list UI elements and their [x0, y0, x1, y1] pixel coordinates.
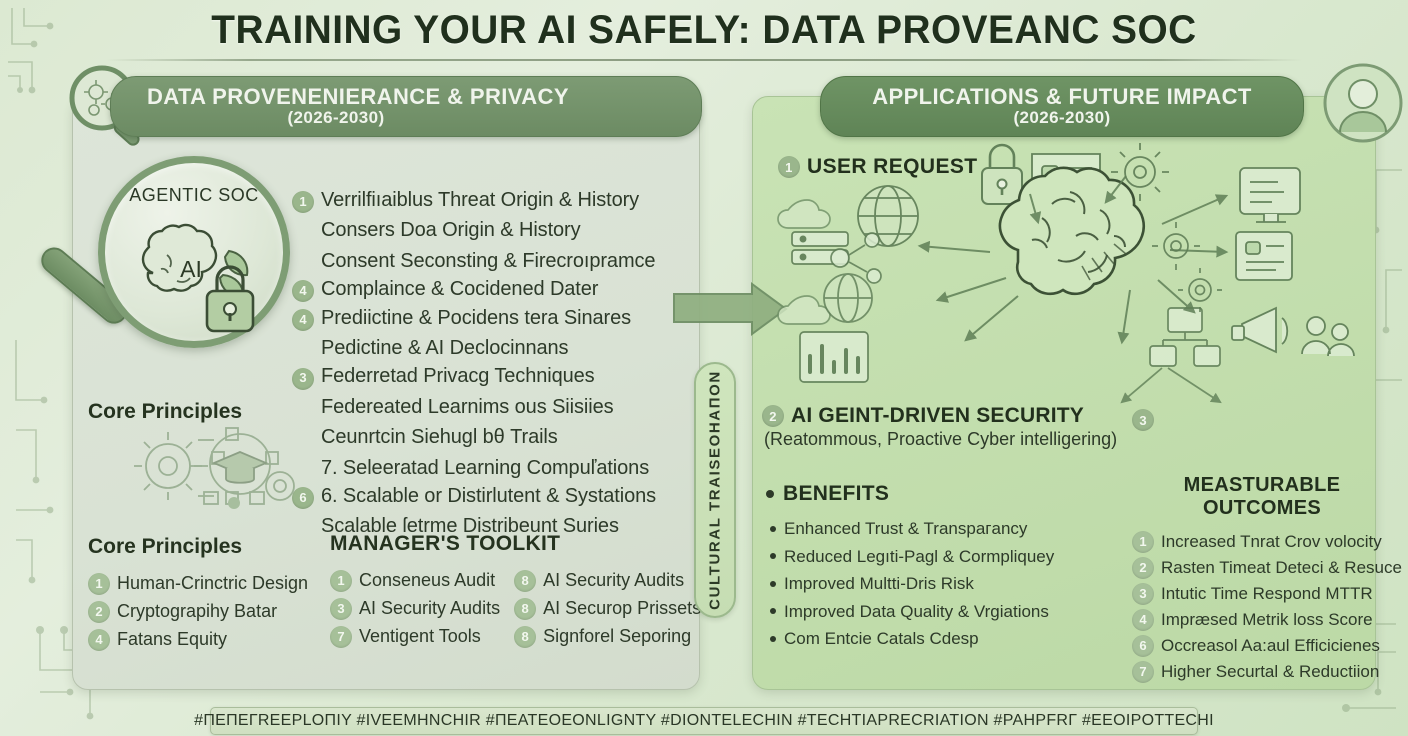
list-text: Rasten Timeat Deteci & Resuce [1161, 555, 1402, 581]
left-panel-header-years: (2026-2030) [147, 109, 675, 127]
step-number: 1 [778, 156, 800, 178]
list-number: 1 [1132, 531, 1154, 553]
list-number: 4 [1132, 609, 1154, 631]
magnifier-lens: AGENTIC SOC AI [98, 156, 290, 348]
list-item: 3Intutic Time Respond MTTR [1132, 581, 1392, 607]
bullet-icon [770, 581, 776, 587]
list-text: Consers Doa Origin & History [321, 216, 581, 244]
list-number: 4 [292, 309, 314, 331]
list-number: 1 [292, 191, 314, 213]
list-item: 6Occreasol Aa:aul Efficicienes [1132, 633, 1392, 659]
list-text: Signforel Seporing [543, 623, 691, 651]
step-2-ai-driven-security: 2AI GEINT-DRIVEN SECURITY (Reatommous, P… [762, 404, 1117, 450]
step-3-badge: 3 [1132, 409, 1161, 431]
list-item: 4Fatans Equity [88, 626, 338, 654]
list-item: Enhanced Trust & Transpaгancy [770, 515, 1106, 543]
list-text: Complaince & Cocidened Dater [321, 275, 598, 303]
step-label: AI GEINT-DRIVEN SECURITY [791, 404, 1084, 428]
list-item: 4Impræsed Metrik loss Score [1132, 607, 1392, 633]
list-number [292, 391, 314, 413]
list-number [292, 332, 314, 354]
list-text: 7. Seleeratad Learning Compuľations [321, 454, 649, 482]
list-text: Enhanced Trust & Transpaгancy [784, 515, 1027, 543]
benefits-title-row: BENEFITS [766, 482, 1106, 506]
list-text: Prediictine & Pocidens tera Sinares [321, 304, 631, 332]
cultural-transformation-label: CULTURAL TRAISEOHAПON [707, 370, 724, 610]
right-panel-header-title: APPLICATIONS & FUTURE IMPACT [847, 85, 1277, 108]
bullet-icon [770, 526, 776, 532]
list-number: 7 [1132, 661, 1154, 683]
list-item: 7. Seleeratad Learning Compuľations [292, 452, 690, 482]
benefits-title: BENEFITS [783, 482, 889, 506]
cultural-transformation-pill: CULTURAL TRAISEOHAПON [694, 362, 736, 618]
step-number: 2 [762, 405, 784, 427]
step-1-user-request: 1 USER REQUEST [778, 155, 978, 179]
bullet-icon [766, 490, 774, 498]
list-number: 6 [1132, 635, 1154, 657]
list-text: Human-Crinctric Design [117, 570, 308, 598]
core-principles-section: Core Principles 1Human-Crinctric Design … [88, 535, 338, 654]
list-item: 8Signforel Seporing [514, 623, 701, 651]
gear-nodes-icon [1152, 222, 1222, 312]
list-number: 1 [330, 570, 352, 592]
list-number: 1 [88, 573, 110, 595]
list-text: Reduced Legıti-Pagl & Cormpliquey [784, 543, 1054, 571]
list-text: Improved Multti-Dris Risk [784, 570, 974, 598]
measurable-outcomes-section: MEASTURABLE OUTCOMES 1Increased Tnrat Cr… [1132, 474, 1392, 685]
globe-icon [824, 274, 872, 322]
page-title: TRAINING YOUR AI SAFELY: DATA PROVEANC S… [21, 8, 1387, 53]
list-item: Pedictine & AI Declocinnans [292, 332, 690, 362]
right-panel-header: APPLICATIONS & FUTURE IMPACT (2026-2030) [820, 76, 1304, 137]
list-item: 7Higher Securtal & Reductiion [1132, 659, 1392, 685]
list-item: 4Complaince & Cocidened Dater [292, 275, 690, 303]
toolkit-column-left: 1Conseneus Audit 3AI Security Audits 7Ve… [330, 567, 500, 651]
list-item: Improved Data Quality & Vrgiations [770, 598, 1106, 626]
monitor-icon [1240, 168, 1300, 222]
page-title-block: TRAINING YOUR AI SAFELY: DATA PROVEANC S… [0, 8, 1408, 61]
agentic-soc-magnifier: AGENTIC SOC AI [98, 156, 290, 348]
padlock-icon [982, 145, 1022, 204]
analytics-card-icon [800, 332, 868, 382]
list-text: Ventigent Tools [359, 623, 481, 651]
list-item: Consent Seconsting & Firecroıpramce [292, 245, 690, 275]
user-avatar-icon [1318, 58, 1408, 148]
list-number: 3 [1132, 583, 1154, 605]
list-item: Ceunrtcin Siehugl bθ Trails [292, 421, 690, 451]
list-text: Fatans Equity [117, 626, 227, 654]
list-number: 4 [88, 629, 110, 651]
measurable-outcomes-title: MEASTURABLE OUTCOMES [1132, 474, 1392, 520]
step-sublabel: (Reatommous, Proactive Cyber intelligeri… [764, 429, 1117, 450]
list-number: 7 [330, 626, 352, 648]
list-item: Consers Doa Origin & History [292, 214, 690, 244]
left-provenance-list: 1Verrilfiıaiblus Threat Origin & History… [292, 186, 690, 541]
list-item: 66. Scalable or Distirlutent & Systation… [292, 482, 690, 510]
list-text: Impræsed Metrik loss Score [1161, 607, 1373, 633]
bullet-icon [770, 608, 776, 614]
list-item: 2Cryptograpihy Batar [88, 598, 338, 626]
list-item: 3Federretad Privacg Techniques [292, 362, 690, 390]
list-item: Federeated Learnims ous Siisiies [292, 391, 690, 421]
bullet-icon [770, 553, 776, 559]
list-item: 1Human-Crinctric Design [88, 570, 338, 598]
list-item: 2Rasten Timeat Deteci & Resuce [1132, 555, 1392, 581]
title-divider [106, 59, 1302, 61]
list-text: Consent Seconsting & Firecroıpramce [321, 247, 655, 275]
list-number [292, 510, 314, 532]
core-principles-title: Core Principles [88, 535, 338, 559]
org-network-icon [1150, 308, 1220, 366]
brain-ai-label: AI [180, 256, 202, 282]
user-group-icon [1302, 317, 1354, 356]
list-item: Improved Multti-Dris Risk [770, 570, 1106, 598]
list-number: 3 [330, 598, 352, 620]
list-text: 6. Scalable or Distirlutent & Systations [321, 482, 656, 510]
list-text: Com Entcie Catals Cdesp [784, 625, 979, 653]
left-panel-header-title: DATA PROVENENIERANCE & PRIVACY [147, 85, 675, 108]
list-text: AI Security Audits [543, 567, 684, 595]
list-item: 8AI Securop Prissets [514, 595, 701, 623]
list-text: Improved Data Quality & Vrgiations [784, 598, 1049, 626]
list-item: 1Verrilfiıaiblus Threat Origin & History [292, 186, 690, 214]
list-text: Conseneus Audit [359, 567, 495, 595]
benefits-section: BENEFITS Enhanced Trust & Transpaгancy R… [766, 482, 1106, 653]
secure-document-icon [1236, 232, 1292, 280]
list-text: Verrilfiıaiblus Threat Origin & History [321, 186, 639, 214]
list-text: AI Security Audits [359, 595, 500, 623]
list-item: 7Ventigent Tools [330, 623, 500, 651]
list-item: 1Increased Tnrat Crov volocity [1132, 529, 1392, 555]
list-item: 8AI Security Audits [514, 567, 701, 595]
list-text: Occreasol Aa:aul Efficicienes [1161, 633, 1380, 659]
list-text: Ceunrtcin Siehugl bθ Trails [321, 423, 558, 451]
managers-toolkit-title: MANAGER'S TOOLKIT [330, 532, 690, 556]
toolkit-column-right: 8AI Security Audits 8AI Securop Prissets… [514, 567, 701, 651]
list-text: Higher Securtal & Reductiion [1161, 659, 1379, 685]
list-number: 2 [1132, 557, 1154, 579]
megaphone-icon [1232, 308, 1287, 352]
right-panel-header-years: (2026-2030) [847, 109, 1277, 127]
list-text: AI Securop Prissets [543, 595, 701, 623]
step-number: 3 [1132, 409, 1154, 431]
left-panel-header: DATA PROVENENIERANCE & PRIVACY (2026-203… [110, 76, 702, 137]
list-item: 3AI Security Audits [330, 595, 500, 623]
bullet-icon [770, 636, 776, 642]
list-text: Pedictine & AI Declocinnans [321, 334, 568, 362]
list-number: 2 [88, 601, 110, 623]
list-text: Federeated Learnims ous Siisiies [321, 393, 614, 421]
list-item: 1Conseneus Audit [330, 567, 500, 595]
list-number [292, 245, 314, 267]
list-text: Cryptograpihy Batar [117, 598, 277, 626]
list-number: 8 [514, 626, 536, 648]
list-item: Com Entcie Catals Cdesp [770, 625, 1106, 653]
list-text: Intutic Time Respond MTTR [1161, 581, 1373, 607]
list-number: 8 [514, 570, 536, 592]
list-number: 8 [514, 598, 536, 620]
circuit-decor-left [10, 330, 66, 590]
list-text: Federretad Privacg Techniques [321, 362, 595, 390]
list-number: 3 [292, 368, 314, 390]
ai-brain-network-graphic [770, 140, 1370, 410]
list-text: Increased Tnrat Crov volocity [1161, 529, 1382, 555]
list-item: 4Prediictine & Pocidens tera Sinares [292, 304, 690, 332]
list-number [292, 214, 314, 236]
hashtag-bar: #ПEПEГREEPLOПIY #IVEEMHNCHIR #ПEATEOEONL… [210, 707, 1198, 735]
list-item: Reduced Legıti-Pagl & Cormpliquey [770, 543, 1106, 571]
step-label: USER REQUEST [807, 155, 978, 179]
gears-graduation-icon [128, 420, 318, 510]
managers-toolkit-section: MANAGER'S TOOLKIT 1Conseneus Audit 3AI S… [330, 532, 690, 651]
list-number: 4 [292, 280, 314, 302]
